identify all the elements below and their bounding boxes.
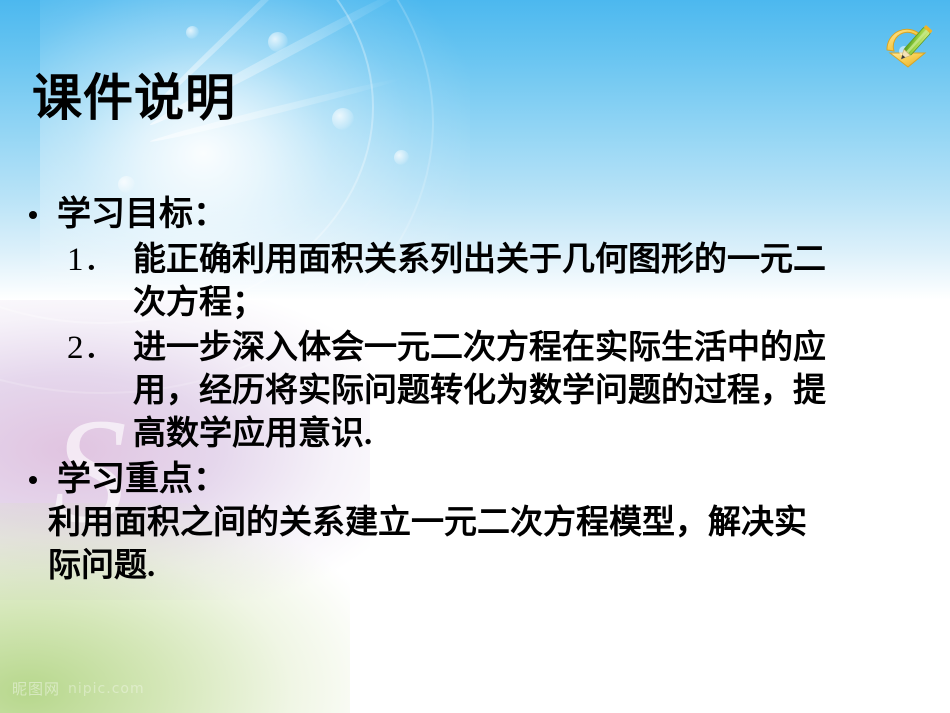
bullet-learning-goals: 学习目标： — [0, 193, 950, 237]
protractor-pencil-icon — [881, 20, 937, 70]
bullet-label: 学习目标： — [57, 196, 227, 233]
goal-item-1-line-2: 次方程； — [67, 282, 950, 325]
bullet-dot-icon — [29, 211, 37, 219]
goal-item-2: 2． 进一步深入体会一元二次方程在实际生活中的应 用，经历将实际问题转化为数学问… — [0, 327, 950, 456]
goal-item-1: 1． 能正确利用面积关系列出关于几何图形的一元二 次方程； — [0, 239, 950, 325]
goal-item-1-line-1: 能正确利用面积关系列出关于几何图形的一元二 — [67, 239, 950, 282]
bullet-learning-focus: 学习重点： — [0, 458, 950, 502]
slide-body: 学习目标： 1． 能正确利用面积关系列出关于几何图形的一元二 次方程； 2． 进… — [0, 193, 950, 588]
page-title: 课件说明 — [32, 72, 236, 125]
goal-item-2-line-3: 高数学应用意识. — [67, 413, 950, 456]
goal-item-1-number: 1． — [67, 239, 117, 282]
slide-canvas: S 课件说明 — [0, 0, 950, 713]
goal-item-2-line-1: 进一步深入体会一元二次方程在实际生活中的应 — [67, 327, 950, 370]
watermark-en: nipic.com — [68, 681, 145, 697]
focus-line-2: 际问题. — [0, 545, 950, 588]
bullet-dot-icon — [29, 476, 37, 484]
focus-line-1: 利用面积之间的关系建立一元二次方程模型，解决实 — [0, 502, 950, 545]
bullet-label: 学习重点： — [57, 461, 227, 498]
goal-item-2-number: 2． — [67, 327, 117, 370]
watermark: 昵图网 nipic.com — [12, 678, 145, 699]
watermark-cn: 昵图网 — [12, 678, 60, 699]
goal-item-2-line-2: 用，经历将实际问题转化为数学问题的过程，提 — [67, 370, 950, 413]
